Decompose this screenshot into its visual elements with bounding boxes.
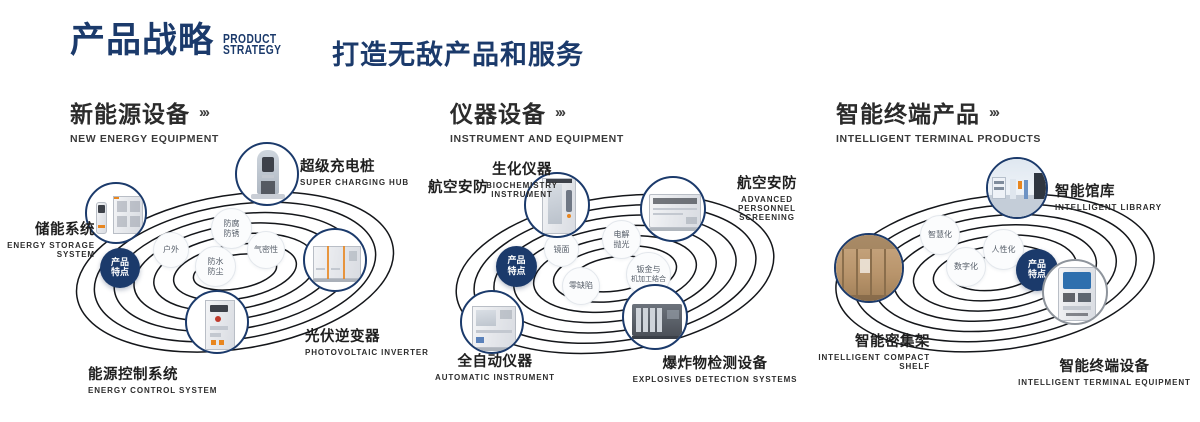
- center-bubble-text: 特点: [111, 268, 129, 279]
- product-name-cn: 超级充电桩: [300, 155, 409, 176]
- feature-bubble: 户外: [153, 232, 189, 268]
- feature-bubble-text: 抛光: [614, 240, 630, 250]
- page-title-cn: 产品战略: [70, 24, 214, 59]
- product-name-en: PHOTOVOLTAIC INVERTER: [305, 348, 429, 357]
- feature-bubble-text: 电解: [614, 230, 630, 240]
- product-caption-biochemistry-instrument: 生化仪器 BIOCHEMISTRY INSTRUMENT: [462, 158, 582, 199]
- feature-bubble: 防水 防尘: [195, 246, 236, 287]
- product-name-en: INTELLIGENT COMPACT SHELF: [790, 353, 930, 371]
- charging-pile-icon: [237, 144, 297, 204]
- chevron-right-triple-icon: ›››: [555, 105, 564, 120]
- product-name-en: AUTOMATIC INSTRUMENT: [430, 373, 560, 382]
- product-name-cn: 智能密集架: [790, 330, 930, 351]
- product-caption-super-charging-hub: 超级充电桩 SUPER CHARGING HUB: [300, 155, 409, 187]
- section-heading-intelligent-terminal: 智能终端产品 ››› INTELLIGENT TERMINAL PRODUCTS: [836, 95, 1041, 145]
- product-name-en: SUPER CHARGING HUB: [300, 178, 409, 187]
- product-node-super-charging-hub[interactable]: [235, 142, 299, 206]
- feature-bubble: 电解 抛光: [602, 220, 641, 259]
- feature-bubble-text: 镜面: [554, 245, 570, 255]
- feature-bubble-text: 户外: [163, 245, 179, 255]
- product-node-intelligent-library[interactable]: [986, 157, 1048, 219]
- section-title-cn: 智能终端产品: [836, 95, 980, 129]
- page-slogan: 打造无敌产品和服务: [332, 33, 584, 72]
- product-caption-intelligent-library: 智能馆库 INTELLIGENT LIBRARY: [1055, 180, 1162, 212]
- feature-bubble-text: 防尘: [208, 267, 224, 277]
- product-node-compact-shelf[interactable]: [834, 233, 904, 303]
- product-caption-compact-shelf: 智能密集架 INTELLIGENT COMPACT SHELF: [790, 330, 930, 371]
- feature-bubble-text: 钣金与: [637, 265, 661, 275]
- center-bubble-product-features: 产品 特点: [100, 248, 140, 288]
- compact-shelf-icon: [836, 235, 902, 301]
- product-name-en: INTELLIGENT TERMINAL EQUIPMENT: [1012, 378, 1197, 387]
- section-title-cn: 新能源设备: [70, 95, 190, 129]
- section-heading-instrument: 仪器设备 ››› INSTRUMENT AND EQUIPMENT: [450, 95, 624, 145]
- product-name-cn: 光伏逆变器: [305, 325, 429, 346]
- product-name-en: ADVANCED PERSONNEL SCREENING: [712, 195, 822, 222]
- feature-bubble-text: 防锈: [224, 229, 240, 239]
- section-heading-new-energy: 新能源设备 ››› NEW ENERGY EQUIPMENT: [70, 95, 219, 145]
- center-bubble-text: 产品: [507, 256, 525, 267]
- feature-bubble: 数字化: [946, 247, 986, 287]
- product-name-en: BIOCHEMISTRY INSTRUMENT: [462, 181, 582, 199]
- product-caption-energy-storage-system: 储能系统 ENERGY STORAGE SYSTEM: [0, 218, 95, 259]
- product-strategy-infographic: 产品战略 PRODUCT STRATEGY 打造无敌产品和服务 新能源设备 ››…: [0, 0, 1200, 422]
- product-name-en: ENERGY STORAGE SYSTEM: [0, 241, 95, 259]
- feature-bubble: 气密性: [247, 231, 285, 269]
- product-name-en: ENERGY CONTROL SYSTEM: [88, 386, 217, 395]
- product-name-cn: 智能终端设备: [1012, 355, 1197, 376]
- product-caption-explosives-detection: 爆炸物检测设备 EXPLOSIVES DETECTION SYSTEMS: [625, 352, 805, 384]
- product-caption-energy-control-system: 能源控制系统 ENERGY CONTROL SYSTEM: [88, 363, 217, 395]
- self-service-kiosk-icon: [1044, 261, 1106, 323]
- feature-bubble-text: 防水: [208, 257, 224, 267]
- feature-bubble-text: 人性化: [992, 245, 1016, 255]
- product-name-cn: 智能馆库: [1055, 180, 1162, 201]
- feature-bubble-text: 机加工结合: [631, 275, 666, 285]
- battery-cabinet-icon: [87, 184, 145, 242]
- product-caption-intelligent-terminal-equipment: 智能终端设备 INTELLIGENT TERMINAL EQUIPMENT: [1012, 355, 1197, 387]
- product-caption-photovoltaic-inverter: 光伏逆变器 PHOTOVOLTAIC INVERTER: [305, 325, 429, 357]
- screening-machine-icon: [642, 178, 704, 240]
- section-title-en: INTELLIGENT TERMINAL PRODUCTS: [836, 133, 1041, 145]
- explosives-detector-icon: [624, 286, 686, 348]
- section-title-cn: 仪器设备: [450, 95, 546, 129]
- library-room-icon: [988, 159, 1046, 217]
- product-name-en: EXPLOSIVES DETECTION SYSTEMS: [625, 375, 805, 384]
- page-title-en-line2: STRATEGY: [223, 45, 281, 56]
- feature-bubble: 智慧化: [920, 215, 960, 255]
- product-name-cn: 生化仪器: [462, 158, 582, 179]
- product-caption-advanced-personnel-screening: 航空安防 ADVANCED PERSONNEL SCREENING: [712, 172, 822, 222]
- feature-bubble-text: 防腐: [224, 219, 240, 229]
- product-caption-automatic-instrument: 全自动仪器 AUTOMATIC INSTRUMENT: [430, 350, 560, 382]
- automatic-instrument-icon: [462, 292, 522, 352]
- product-name-cn: 能源控制系统: [88, 363, 217, 384]
- center-bubble-text: 产品: [111, 258, 129, 269]
- center-bubble-product-features: 产品 特点: [496, 246, 537, 287]
- product-name-cn: 全自动仪器: [430, 350, 560, 371]
- feature-bubble-text: 零缺陷: [569, 281, 593, 291]
- center-bubble-text: 特点: [507, 267, 525, 278]
- product-node-self-service-kiosk[interactable]: [1042, 259, 1108, 325]
- feature-bubble: 零缺陷: [562, 267, 600, 305]
- product-node-automatic-instrument[interactable]: [460, 290, 524, 354]
- section-title-en: INSTRUMENT AND EQUIPMENT: [450, 133, 624, 145]
- page-title-en: PRODUCT STRATEGY: [223, 34, 281, 56]
- feature-bubble-text: 数字化: [954, 262, 978, 272]
- feature-bubble-text: 智慧化: [928, 230, 952, 240]
- feature-bubble: 防腐 防锈: [211, 208, 252, 249]
- product-node-photovoltaic-inverter[interactable]: [303, 228, 367, 292]
- feature-bubble-text: 气密性: [254, 245, 278, 255]
- section-title-en: NEW ENERGY EQUIPMENT: [70, 133, 219, 145]
- product-name-en: INTELLIGENT LIBRARY: [1055, 203, 1162, 212]
- chevron-right-triple-icon: ›››: [989, 105, 998, 120]
- page-title: 产品战略 PRODUCT STRATEGY: [70, 24, 294, 59]
- control-cabinet-icon: [187, 292, 247, 352]
- product-node-advanced-personnel-screening[interactable]: [640, 176, 706, 242]
- product-name-cn: 储能系统: [0, 218, 95, 239]
- product-name-cn: 爆炸物检测设备: [625, 352, 805, 373]
- product-node-explosives-detection[interactable]: [622, 284, 688, 350]
- product-name-cn: 航空安防: [712, 172, 822, 193]
- product-node-energy-control-system[interactable]: [185, 290, 249, 354]
- inverter-cabinet-icon: [305, 230, 365, 290]
- chevron-right-triple-icon: ›››: [199, 105, 208, 120]
